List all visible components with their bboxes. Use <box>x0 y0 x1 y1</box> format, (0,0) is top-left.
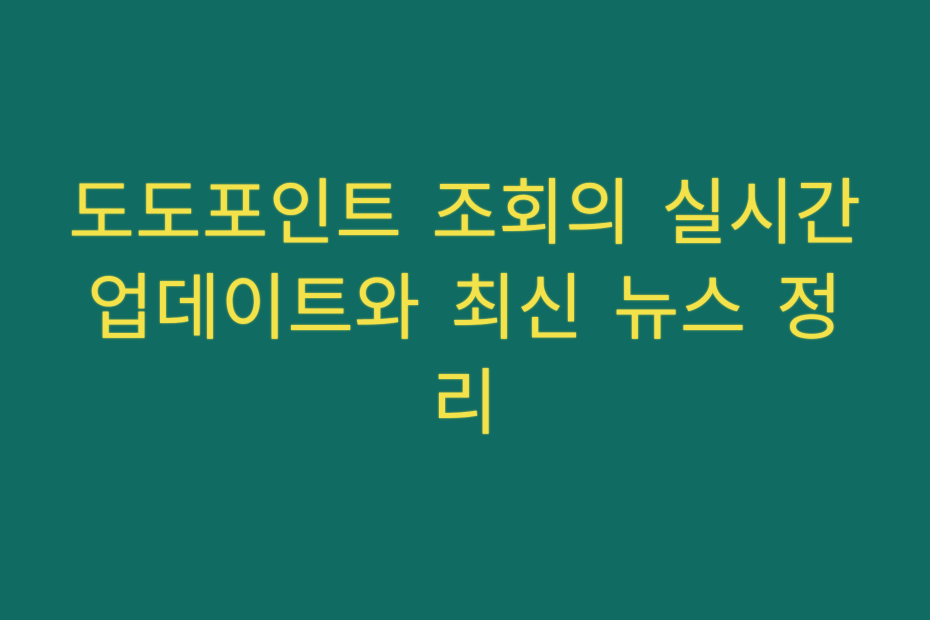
banner-card: 도도포인트 조회의 실시간 업데이트와 최신 뉴스 정리 <box>0 0 930 620</box>
page-title: 도도포인트 조회의 실시간 업데이트와 최신 뉴스 정리 <box>55 166 875 451</box>
title-block: 도도포인트 조회의 실시간 업데이트와 최신 뉴스 정리 <box>55 166 875 451</box>
